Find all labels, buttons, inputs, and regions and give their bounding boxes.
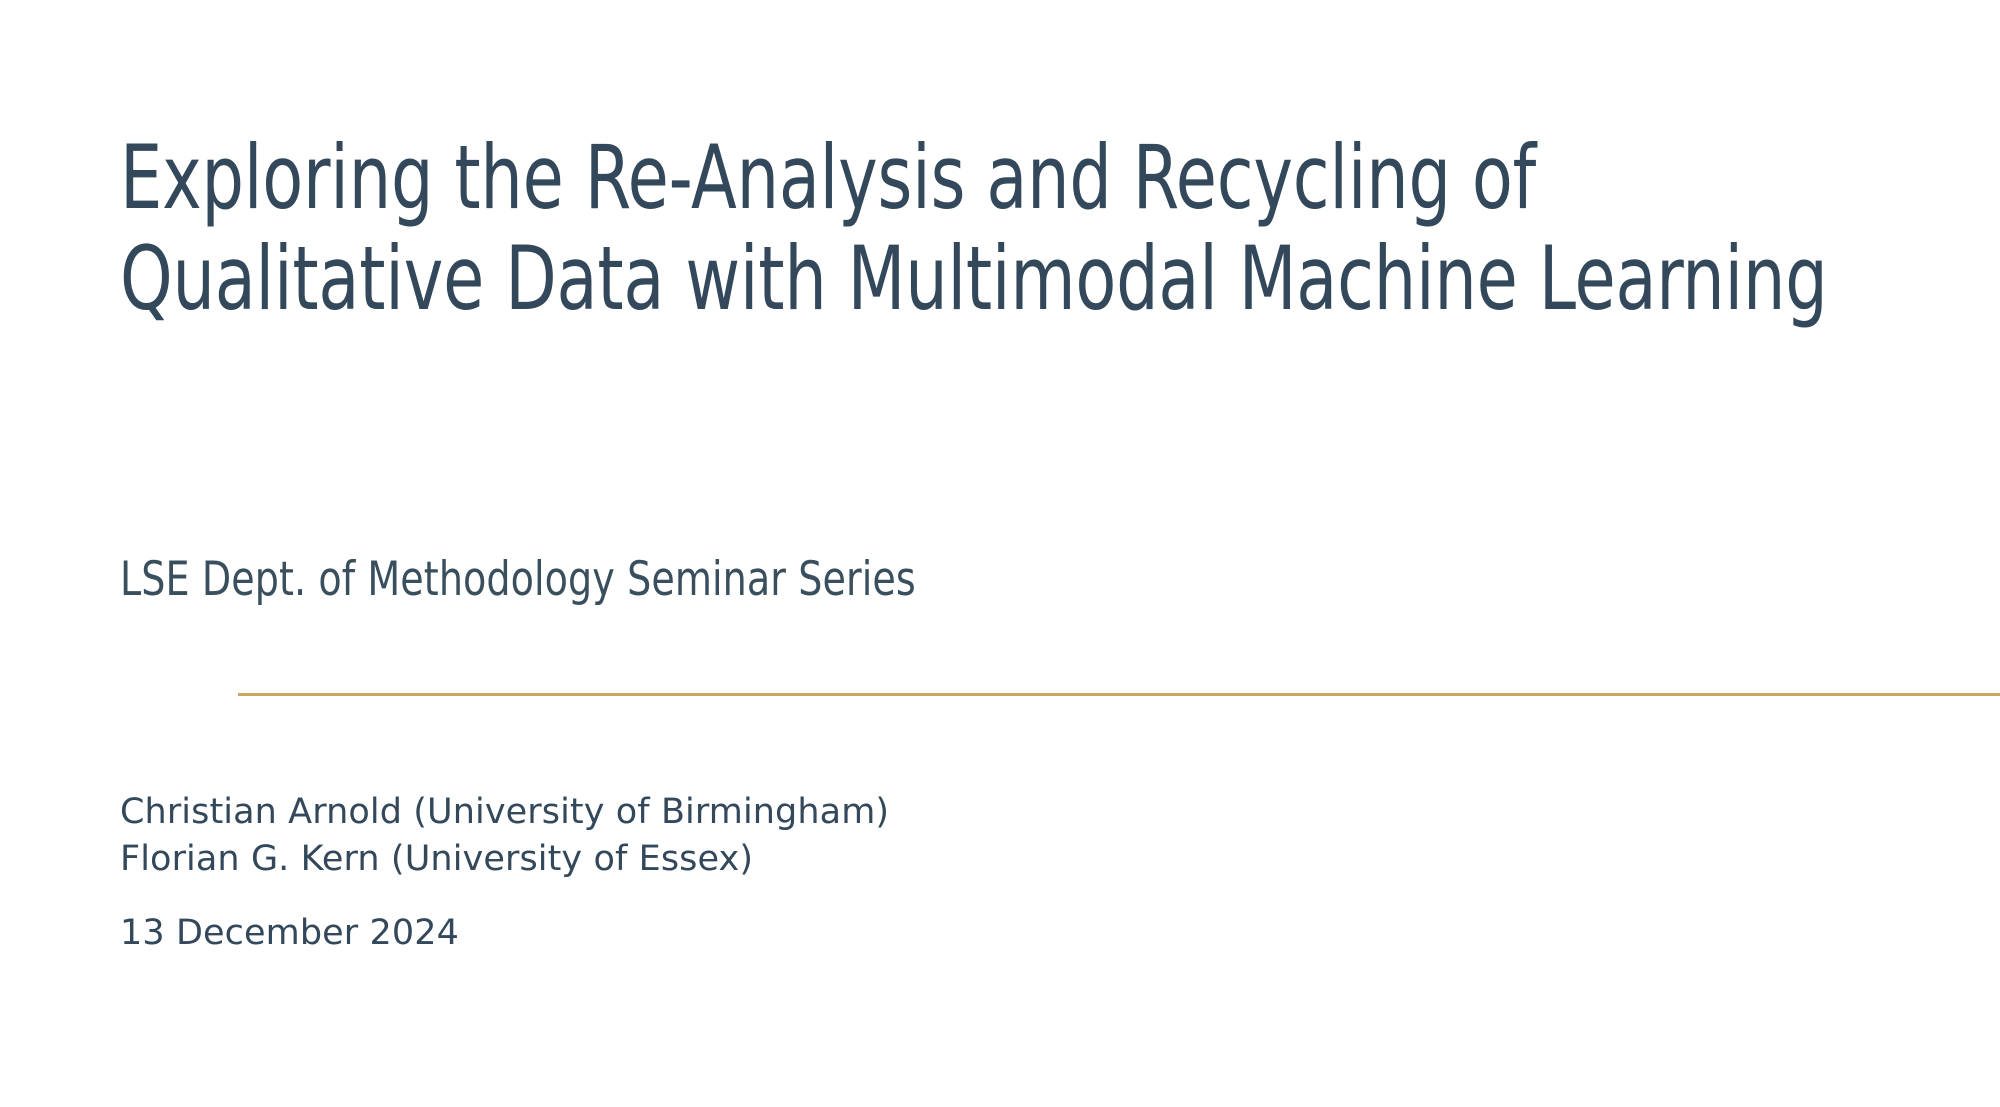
title-block: Exploring the Re-Analysis and Recycling … <box>120 128 1910 330</box>
page-title: Exploring the Re-Analysis and Recycling … <box>120 128 1903 330</box>
author-line: Florian G. Kern (University of Essex) <box>120 836 1910 883</box>
author-line: Christian Arnold (University of Birmingh… <box>120 789 1910 836</box>
page-subtitle: LSE Dept. of Methodology Seminar Series <box>120 552 1902 608</box>
accent-divider <box>238 693 2000 696</box>
author-date-block: Christian Arnold (University of Birmingh… <box>120 789 1910 957</box>
subtitle-block: LSE Dept. of Methodology Seminar Series <box>120 552 1910 608</box>
presentation-date: 13 December 2024 <box>120 910 1910 957</box>
title-slide: Exploring the Re-Analysis and Recycling … <box>0 0 2000 1107</box>
